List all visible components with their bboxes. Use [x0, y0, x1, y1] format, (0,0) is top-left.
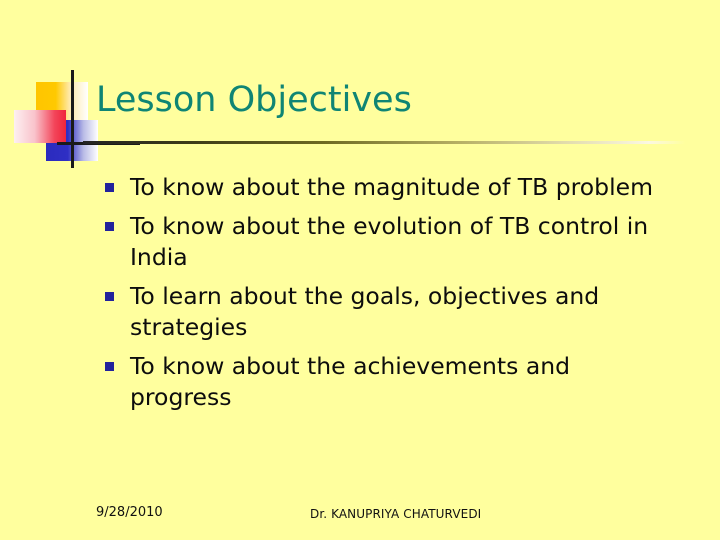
- list-item-label: To know about the evolution of TB contro…: [130, 211, 660, 273]
- list-item: To know about the magnitude of TB proble…: [100, 172, 660, 203]
- list-item: To know about the achievements and progr…: [100, 351, 660, 413]
- bullet-square-icon: [105, 183, 114, 192]
- logo-red-square-icon: [14, 110, 66, 143]
- presentation-slide: Lesson Objectives To know about the magn…: [0, 0, 720, 540]
- list-item-label: To know about the achievements and progr…: [130, 351, 660, 413]
- list-item-label: To learn about the goals, objectives and…: [130, 281, 660, 343]
- bullet-square-icon: [105, 222, 114, 231]
- footer-author: Dr. KANUPRIYA CHATURVEDI: [310, 507, 481, 521]
- list-item: To learn about the goals, objectives and…: [100, 281, 660, 343]
- footer-date: 9/28/2010: [96, 505, 163, 520]
- logo-vertical-line-icon: [71, 70, 74, 168]
- list-item: To know about the evolution of TB contro…: [100, 211, 660, 273]
- list-item-label: To know about the magnitude of TB proble…: [130, 172, 660, 203]
- objectives-list: To know about the magnitude of TB proble…: [100, 172, 660, 421]
- bullet-square-icon: [105, 362, 114, 371]
- slide-decorative-logo: [0, 60, 110, 180]
- bullet-square-icon: [105, 292, 114, 301]
- slide-title: Lesson Objectives: [96, 78, 412, 122]
- title-underline-rule: [83, 141, 685, 144]
